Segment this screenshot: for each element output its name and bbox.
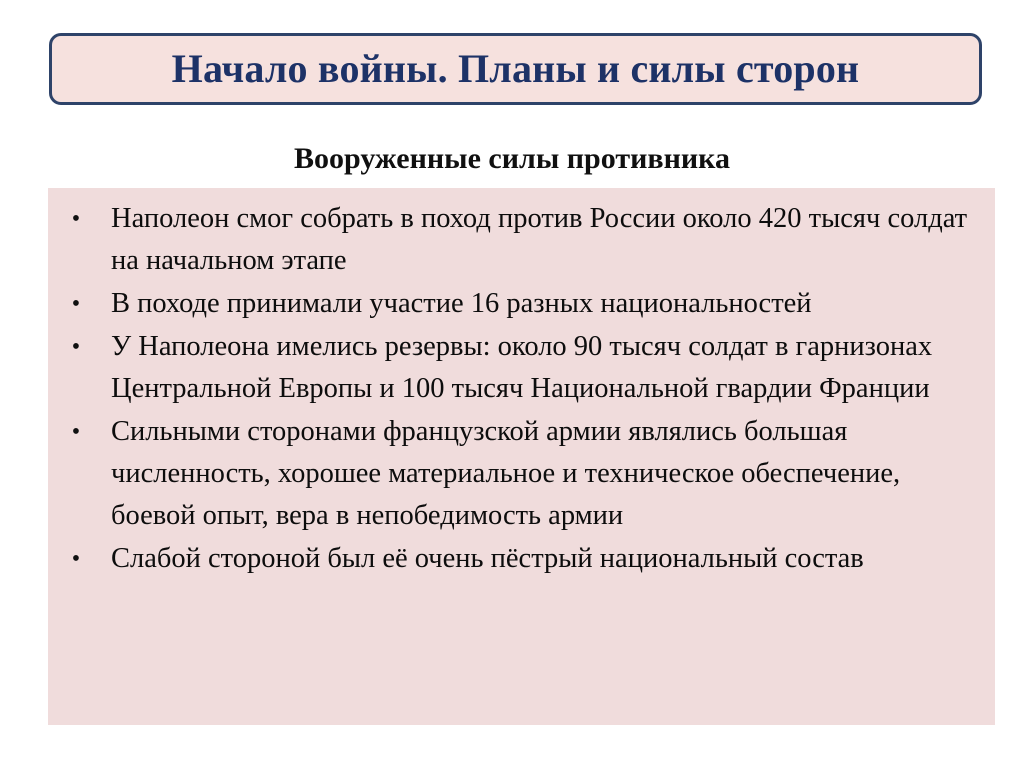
list-item: • Сильными сторонами французской армии я…	[62, 411, 983, 537]
list-item-text: Слабой стороной был её очень пёстрый нац…	[111, 538, 983, 580]
list-item: • У Наполеона имелись резервы: около 90 …	[62, 326, 983, 410]
bullet-dot-icon: •	[67, 198, 85, 240]
bullet-dot-icon: •	[67, 538, 85, 580]
list-item: • В походе принимали участие 16 разных н…	[62, 283, 983, 325]
section-subtitle: Вооруженные силы противника	[0, 141, 1024, 177]
list-item-text: Наполеон смог собрать в поход против Рос…	[111, 198, 983, 282]
bullet-dot-icon: •	[67, 411, 85, 453]
list-item-text: В походе принимали участие 16 разных нац…	[111, 283, 983, 325]
list-item: • Слабой стороной был её очень пёстрый н…	[62, 538, 983, 580]
page-title: Начало войны. Планы и силы сторон	[172, 49, 860, 89]
list-item-text: У Наполеона имелись резервы: около 90 ты…	[111, 326, 983, 410]
bullet-dot-icon: •	[67, 326, 85, 368]
list-item: • Наполеон смог собрать в поход против Р…	[62, 198, 983, 282]
slide: Начало войны. Планы и силы сторон Вооруж…	[0, 0, 1024, 767]
bullet-list: • Наполеон смог собрать в поход против Р…	[62, 198, 983, 580]
bullet-dot-icon: •	[67, 283, 85, 325]
slide-title-box: Начало войны. Планы и силы сторон	[49, 33, 982, 105]
content-panel: • Наполеон смог собрать в поход против Р…	[48, 188, 995, 725]
list-item-text: Сильными сторонами французской армии явл…	[111, 411, 983, 537]
